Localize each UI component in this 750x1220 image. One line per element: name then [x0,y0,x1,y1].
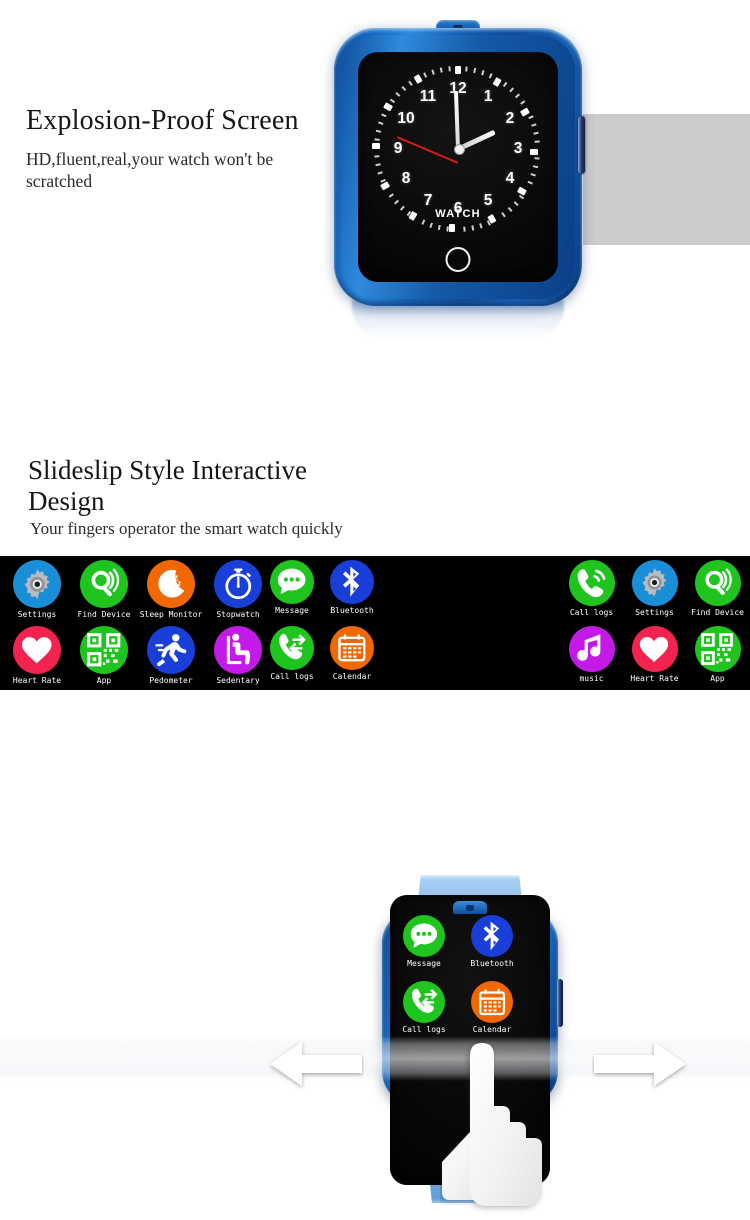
clock-numeral: 3 [508,141,528,157]
page-title-explosion-proof: Explosion-Proof Screen [26,104,356,138]
clock-hour-tick [530,149,538,155]
clock-minute-tick [377,171,382,174]
watch-reflection [352,300,564,340]
clock-minute-tick [535,140,540,143]
clock-minute-tick [531,123,536,126]
clock-minute-tick [520,100,525,105]
clock-numeral: 9 [388,141,408,157]
sitting-person-icon[interactable] [214,626,262,674]
clock-minute-tick [376,129,381,132]
watch-side-button[interactable] [557,979,563,1027]
clock-hour-tick [517,186,527,195]
clock-numeral: 12 [448,81,468,97]
app-icon-cell[interactable]: Find Device [686,560,749,626]
subtitle-slideslip: Your fingers operator the smart watch qu… [30,518,350,539]
magnifier-signal-icon[interactable] [695,560,741,606]
slide-left-arrow-icon[interactable] [268,1038,364,1090]
moon-zzz-icon[interactable]: z z z [147,560,195,608]
app-icon-label: App [97,676,111,686]
app-icon-cell[interactable]: Call logs [262,626,322,692]
app-icon-label: Settings [635,608,674,618]
clock-minute-tick [514,201,519,206]
app-icon-label: Find Device [691,608,744,618]
clock-minute-tick [479,223,482,228]
clock-minute-tick [515,93,520,98]
heart-icon[interactable] [13,626,61,674]
clock-numeral: 1 [478,89,498,105]
clock-minute-tick [508,207,513,212]
clock-minute-tick [440,67,443,72]
clock-hour-tick [520,107,530,116]
clock-minute-tick [471,225,474,230]
watch-screen[interactable]: 121234567891011 WATCH [358,52,558,282]
clock-minute-tick [401,86,406,91]
app-icon-cell[interactable]: Calendar [322,626,382,692]
clock-minute-tick [473,67,476,72]
bluetooth-icon[interactable] [471,915,513,957]
app-grid-middle: Message Bluetooth Call logs Calendar [262,560,382,692]
stopwatch-icon[interactable] [214,560,262,608]
clock-hour-tick [383,102,393,111]
gear-icon[interactable] [13,560,61,608]
clock-minute-tick [421,219,425,224]
minute-hand [454,91,460,149]
grey-swatch-panel [583,114,750,245]
watch-side-button[interactable] [578,116,585,174]
app-icon-cell[interactable]: Bluetooth [458,915,526,981]
app-icon-label: Bluetooth [330,606,373,616]
magnifier-signal-icon[interactable] [80,560,128,608]
clock-minute-tick [429,222,432,227]
app-icon-cell[interactable]: Heart Rate [4,626,70,692]
clock-minute-tick [374,155,379,158]
app-icon-label: Call logs [570,608,613,618]
gear-icon[interactable] [632,560,678,606]
smartwatch-front-view: 121234567891011 WATCH [334,28,582,306]
app-grid-watch-screen: Message Bluetooth Call logs Calendar [390,915,526,1047]
section-slideslip-design: Slideslip Style Interactive Design Your … [0,420,750,844]
clock-numeral: 5 [478,193,498,209]
clock-minute-tick [395,92,400,97]
chat-bubble-icon[interactable] [270,560,314,604]
clock-numeral: 7 [418,193,438,209]
home-button[interactable] [446,247,471,272]
watch-top-nub [453,901,487,914]
app-icon-cell[interactable]: Settings [623,560,686,626]
app-icon-cell[interactable]: z z zSleep Monitor [138,560,204,626]
clock-minute-tick [534,157,539,160]
svg-text:z: z [177,578,181,587]
qr-code-icon[interactable] [80,626,128,674]
app-icon-label: Pedometer [149,676,192,686]
app-icon-label: Bluetooth [470,959,513,969]
clock-minute-tick [390,98,395,103]
clock-minute-tick [489,73,493,78]
app-icon-cell[interactable]: App [686,626,749,692]
analog-clock-face: 121234567891011 [375,66,541,232]
clock-minute-tick [378,121,383,124]
clock-minute-tick [481,70,484,75]
clock-minute-tick [438,224,441,229]
clock-minute-tick [448,66,451,71]
app-icon-label: Call logs [402,1025,445,1035]
app-grid-right: Call logs Settings Find Device music Hea… [560,560,749,692]
clock-hour-tick [449,224,455,232]
app-icon-cell[interactable]: Calendar [458,981,526,1047]
clock-minute-tick [501,212,506,217]
clock-minute-tick [394,199,399,204]
app-icon-label: Heart Rate [13,676,61,686]
qr-code-icon[interactable] [695,626,741,672]
calendar-icon[interactable] [330,626,374,670]
app-icon-label: Message [275,606,309,616]
page-title-slideslip: Slideslip Style Interactive Design [28,455,358,517]
app-icon-cell[interactable]: Message [390,915,458,981]
app-icon-cell[interactable]: Heart Rate [623,626,686,692]
clock-numeral: 11 [418,89,438,105]
clock-numeral: 8 [396,171,416,187]
clock-minute-tick [503,81,508,86]
clock-minute-tick [381,113,386,117]
watch-brand-text: WATCH [435,208,481,220]
app-icon-cell[interactable]: App [71,626,137,692]
clock-minute-tick [509,87,514,92]
chat-bubble-icon[interactable] [403,915,445,957]
svg-text:z: z [174,586,177,592]
app-icon-cell[interactable]: Pedometer [138,626,204,692]
bluetooth-icon[interactable] [330,560,374,604]
clock-minute-tick [374,138,379,141]
app-icon-cell[interactable]: Settings [4,560,70,626]
clock-minute-tick [463,226,466,231]
app-icon-label: Message [407,959,441,969]
phone-signal-icon[interactable] [569,560,615,606]
app-icon-label: Settings [18,610,57,620]
app-icon-label: Calendar [333,672,372,682]
hand-pointer-cursor [440,1040,558,1215]
clock-numeral: 2 [500,111,520,127]
clock-minute-tick [527,180,532,184]
app-icon-label: music [579,674,603,684]
heart-icon[interactable] [632,626,678,672]
clock-hour-tick [455,66,461,74]
phone-exchange-icon[interactable] [270,626,314,670]
app-icon-cell[interactable]: Call logs [390,981,458,1047]
clock-numeral: 4 [500,171,520,187]
phone-exchange-icon[interactable] [403,981,445,1023]
calendar-icon[interactable] [471,981,513,1023]
clock-hour-tick [414,74,423,84]
clock-minute-tick [431,69,434,74]
clock-minute-tick [533,165,538,168]
clock-minute-tick [533,131,538,134]
subtitle-explosion-proof: HD,fluent,real,your watch won't be scrat… [26,148,326,192]
slide-right-arrow-icon[interactable] [592,1038,688,1090]
app-icon-label: Stopwatch [216,610,259,620]
clock-minute-tick [408,80,413,85]
app-icon-cell[interactable]: Find Device [71,560,137,626]
app-icon-label: App [710,674,724,684]
app-icon-label: Sedentary [216,676,259,686]
runner-icon[interactable] [147,626,195,674]
clock-hour-tick [493,77,502,87]
app-icon-label: Sleep Monitor [140,610,203,620]
app-icon-label: Find Device [78,610,131,620]
clock-minute-tick [389,193,394,198]
clock-minute-tick [400,205,405,210]
app-icon-cell[interactable]: Bluetooth [322,560,382,626]
app-icon-label: Calendar [473,1025,512,1035]
app-icon-label: Call logs [270,672,313,682]
app-icon-cell[interactable]: music [560,626,623,692]
clock-minute-tick [465,66,468,71]
music-note-icon[interactable] [569,626,615,672]
clock-numeral: 10 [396,111,416,127]
clock-hour-tick [372,143,380,149]
clock-minute-tick [423,72,427,77]
clock-minute-tick [528,115,533,119]
section-explosion-proof-screen: Explosion-Proof Screen HD,fluent,real,yo… [0,0,750,420]
clock-center-pivot [454,144,465,155]
app-icon-label: Heart Rate [630,674,678,684]
clock-minute-tick [531,173,536,176]
app-icon-cell[interactable]: Message [262,560,322,626]
app-icon-cell[interactable]: Call logs [560,560,623,626]
clock-minute-tick [375,163,380,166]
app-grid-left: Settings Find Device z z zSleep Monitor … [4,560,271,692]
